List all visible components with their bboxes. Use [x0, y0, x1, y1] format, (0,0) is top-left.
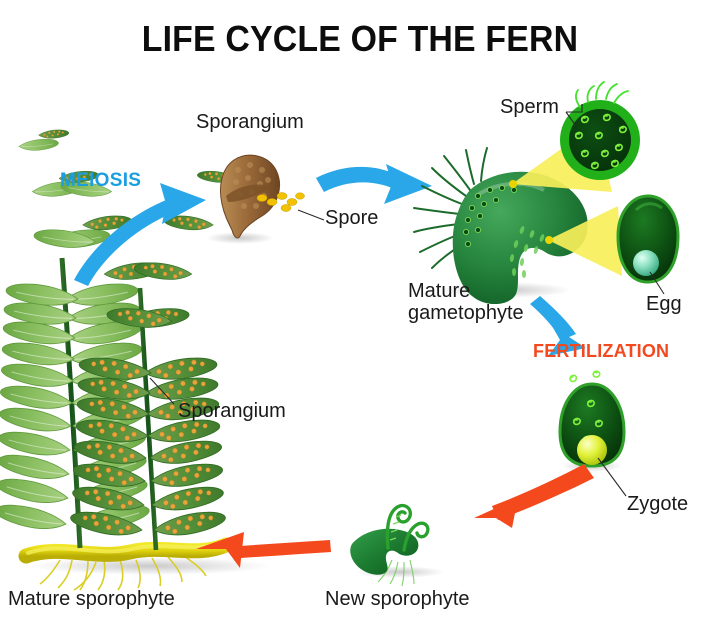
leader-line-spore — [298, 210, 324, 220]
new-sporophyte-illustration — [350, 506, 444, 586]
diagram-artwork — [0, 0, 720, 637]
egg-cell — [633, 250, 659, 276]
sporangium-illustration — [206, 155, 324, 244]
label-mature-gametophyte: Mature gametophyte — [408, 280, 524, 325]
label-new-sporophyte: New sporophyte — [325, 588, 470, 610]
fern-life-cycle-diagram: LIFE CYCLE OF THE FERN — [0, 0, 720, 637]
antheridium-illustration — [560, 82, 640, 180]
label-sperm: Sperm — [500, 96, 559, 118]
label-spore: Spore — [325, 207, 378, 229]
label-egg: Egg — [646, 293, 682, 315]
arrow-spore-to-gametophyte-icon — [316, 164, 432, 204]
archegonium-egg-illustration — [618, 196, 678, 294]
label-zygote: Zygote — [627, 493, 688, 515]
zygote-cell — [577, 435, 607, 465]
label-sporangium-fern: Sporangium — [178, 400, 286, 422]
label-sporangium-top: Sporangium — [196, 111, 304, 133]
stage-label-meiosis: MEIOSIS — [60, 170, 141, 192]
stage-label-fertilization: FERTILIZATION — [533, 341, 669, 362]
arrow-zygote-to-new-sporophyte-icon — [474, 464, 594, 528]
label-mature-sporophyte: Mature sporophyte — [8, 588, 175, 610]
